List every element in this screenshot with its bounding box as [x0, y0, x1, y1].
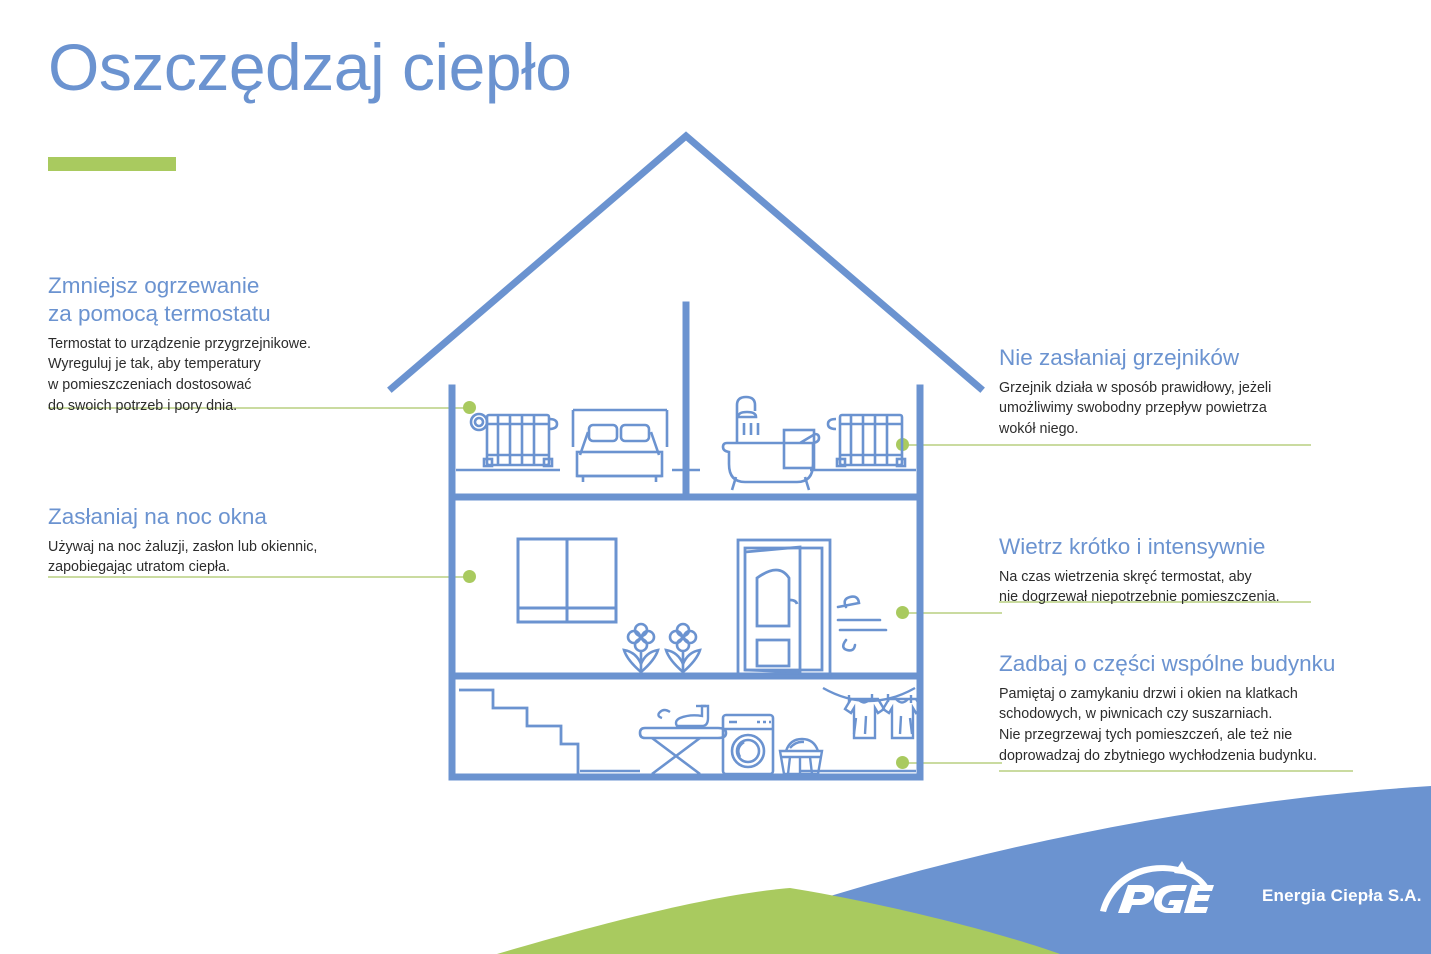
pge-logo-icon: [1096, 855, 1216, 919]
callout-heading: Zadbaj o części wspólne budynku: [999, 650, 1399, 678]
door-handle-icon: [790, 600, 797, 604]
callout-body: Na czas wietrzenia skręć termostat, aby …: [999, 567, 1399, 608]
callout-heading: Wietrz krótko i intensywnie: [999, 533, 1399, 561]
house-cross-section-illustration: [0, 0, 1431, 954]
callout-heading: Zasłaniaj na noc okna: [48, 503, 378, 531]
pge-wordmark: [1118, 885, 1214, 913]
callout-thermostat: Zmniejsz ogrzewanie za pomocą termostatu…: [48, 272, 378, 416]
towel-icon: [784, 430, 814, 468]
callout-radiators: Nie zasłaniaj grzejników Grzejnik działa…: [999, 344, 1399, 440]
iron-icon: [658, 706, 708, 726]
brand-logo: Energia Ciepła S.A.: [1096, 855, 1422, 919]
door-icon: [738, 540, 830, 676]
callout-heading: Nie zasłaniaj grzejników: [999, 344, 1399, 372]
flower-icon: [624, 624, 658, 675]
callout-body: Używaj na noc żaluzji, zasłon lub okienn…: [48, 537, 378, 578]
callout-windows: Zasłaniaj na noc okna Używaj na noc żalu…: [48, 503, 378, 578]
thermostat-valve-icon: [471, 414, 487, 430]
callout-heading: Zmniejsz ogrzewanie za pomocą termostatu: [48, 272, 378, 328]
infographic-poster: Oszczędzaj ciepło: [0, 0, 1431, 954]
brand-name: Energia Ciepła S.A.: [1262, 868, 1422, 906]
ironing-board-icon: [640, 728, 726, 774]
callout-body: Termostat to urządzenie przygrzejnikowe.…: [48, 334, 378, 416]
stairs-icon: [459, 690, 578, 774]
flower-icon: [666, 624, 700, 675]
bathtub-icon: [723, 397, 819, 490]
callout-ventilate: Wietrz krótko i intensywnie Na czas wiet…: [999, 533, 1399, 608]
bed-icon: [573, 410, 667, 482]
clothesline-icon: [823, 688, 922, 738]
radiator-icon: [828, 415, 905, 466]
house-shell: [392, 136, 980, 777]
laundry-basket-icon: [780, 739, 822, 774]
callout-common-areas: Zadbaj o części wspólne budynku Pamiętaj…: [999, 650, 1399, 766]
water-drops-icon: [744, 423, 758, 435]
washing-machine-icon: [723, 715, 773, 774]
shower-icon: [737, 397, 755, 411]
callout-body: Pamiętaj o zamykaniu drzwi i okien na kl…: [999, 684, 1399, 766]
tub-feet-icon: [732, 477, 809, 490]
shirt-icon: [883, 699, 922, 738]
callout-body: Grzejnik działa w sposób prawidłowy, jeż…: [999, 378, 1399, 440]
radiator-icon: [471, 414, 557, 466]
wind-icon: [838, 597, 886, 651]
window-icon: [518, 539, 616, 622]
